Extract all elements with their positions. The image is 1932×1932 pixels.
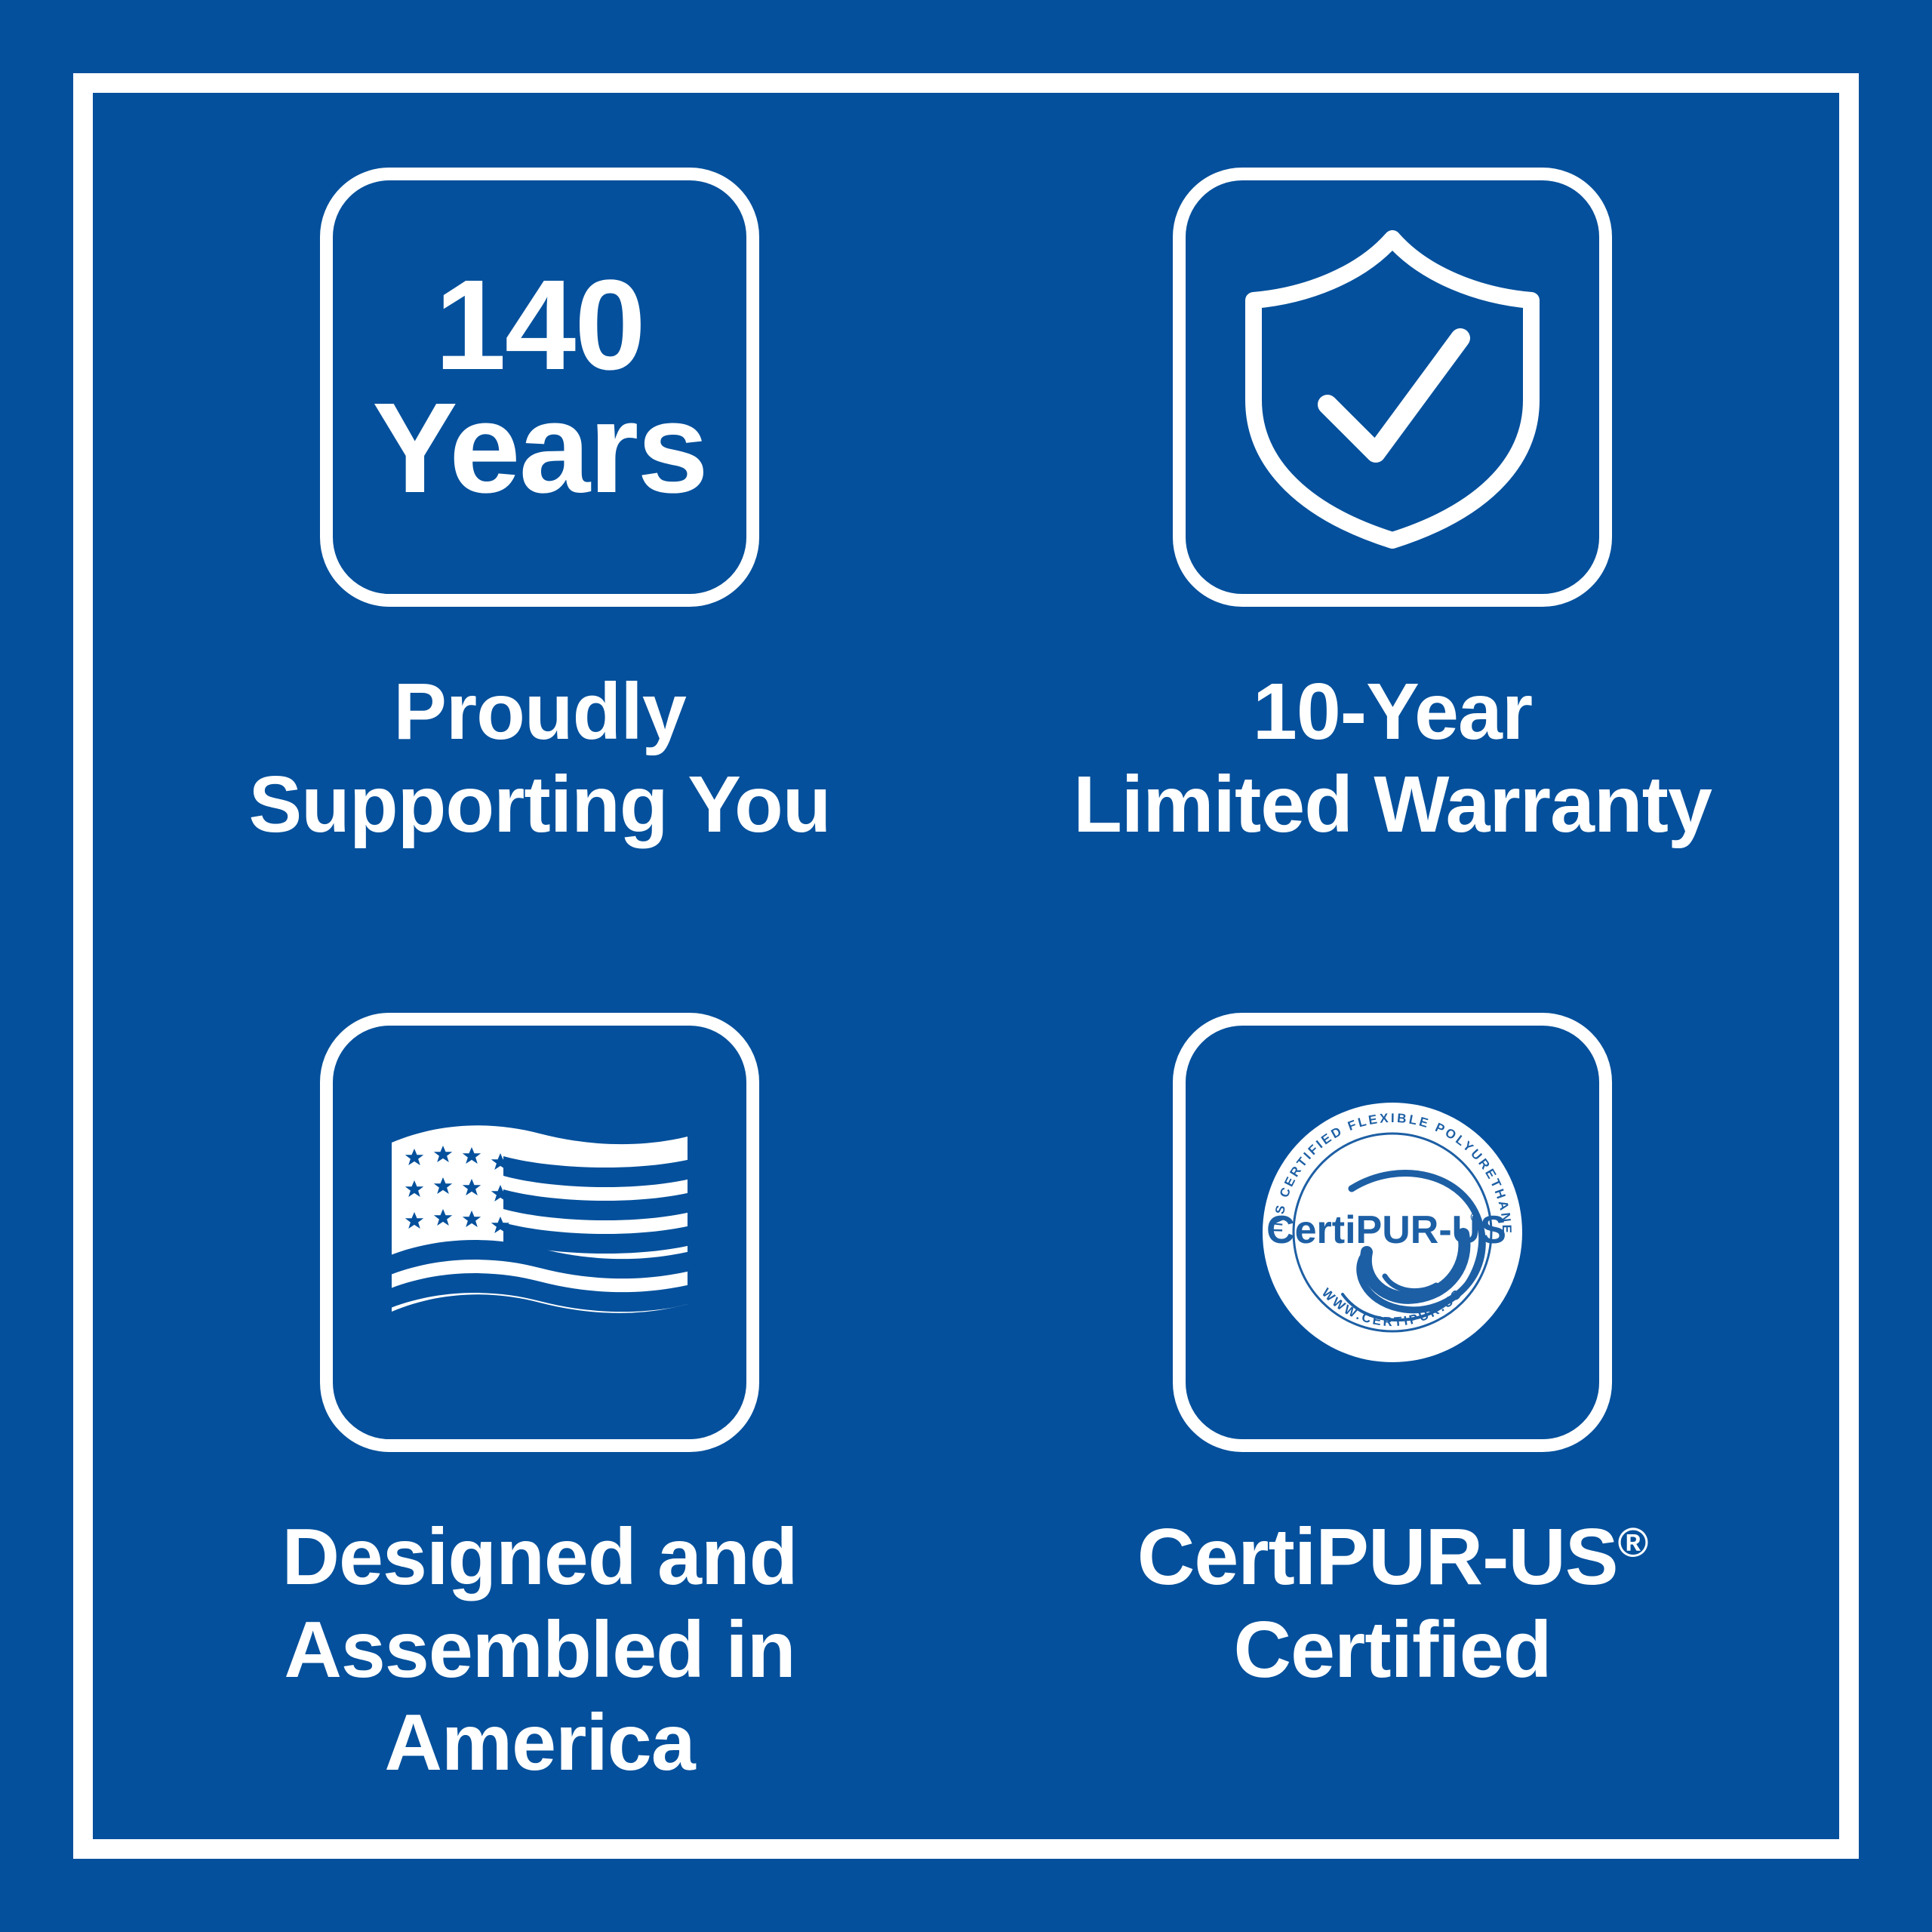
feature-caption: CertiPUR-US® Certified (1137, 1511, 1647, 1697)
caption-line-1: 10-Year (1073, 666, 1712, 758)
caption-line-1: Proudly (248, 666, 830, 758)
flag-badge-frame (320, 1013, 759, 1452)
usa-flag-icon (389, 1123, 691, 1342)
shield-check-icon (1234, 225, 1551, 549)
feature-proudly-supporting-you: 140 Years Proudly Supporting You (113, 113, 966, 966)
years-badge-icon: 140 Years (320, 168, 759, 607)
caption-line-2: Limited Warranty (1073, 758, 1712, 851)
caption-line-2: Certified (1137, 1604, 1647, 1697)
caption-line-1: CertiPUR-US® (1137, 1511, 1647, 1604)
years-badge-number: 140 (435, 264, 645, 387)
feature-designed-assembled-america: Designed and Assembled in America (113, 966, 966, 1819)
certipur-us-seal-icon: CONTAINS CERTIFIED FLEXIBLE POLYURETHANE… (1257, 1097, 1528, 1368)
caption-line-2: Assembled in (281, 1604, 797, 1697)
caption-line-1: Designed and (281, 1511, 797, 1604)
seal-wordmark-superscript: ® (1470, 1210, 1480, 1225)
feature-limited-warranty: 10-Year Limited Warranty (966, 113, 1819, 966)
feature-grid: 140 Years Proudly Supporting You 10-Year… (113, 113, 1819, 1819)
registered-mark: ® (1618, 1519, 1648, 1566)
promo-graphic: 140 Years Proudly Supporting You 10-Year… (0, 0, 1932, 1932)
certipur-badge-frame: CONTAINS CERTIFIED FLEXIBLE POLYURETHANE… (1173, 1013, 1612, 1452)
feature-caption: Proudly Supporting You (248, 666, 830, 851)
feature-certipur-certified: CONTAINS CERTIFIED FLEXIBLE POLYURETHANE… (966, 966, 1819, 1819)
feature-caption: 10-Year Limited Warranty (1073, 666, 1712, 851)
caption-line-2: Supporting You (248, 758, 830, 851)
feature-caption: Designed and Assembled in America (281, 1511, 797, 1789)
shield-badge-frame (1173, 168, 1612, 607)
caption-line-1-text: CertiPUR-US (1137, 1512, 1618, 1601)
caption-line-3: America (281, 1697, 797, 1789)
years-badge-label: Years (372, 387, 707, 510)
